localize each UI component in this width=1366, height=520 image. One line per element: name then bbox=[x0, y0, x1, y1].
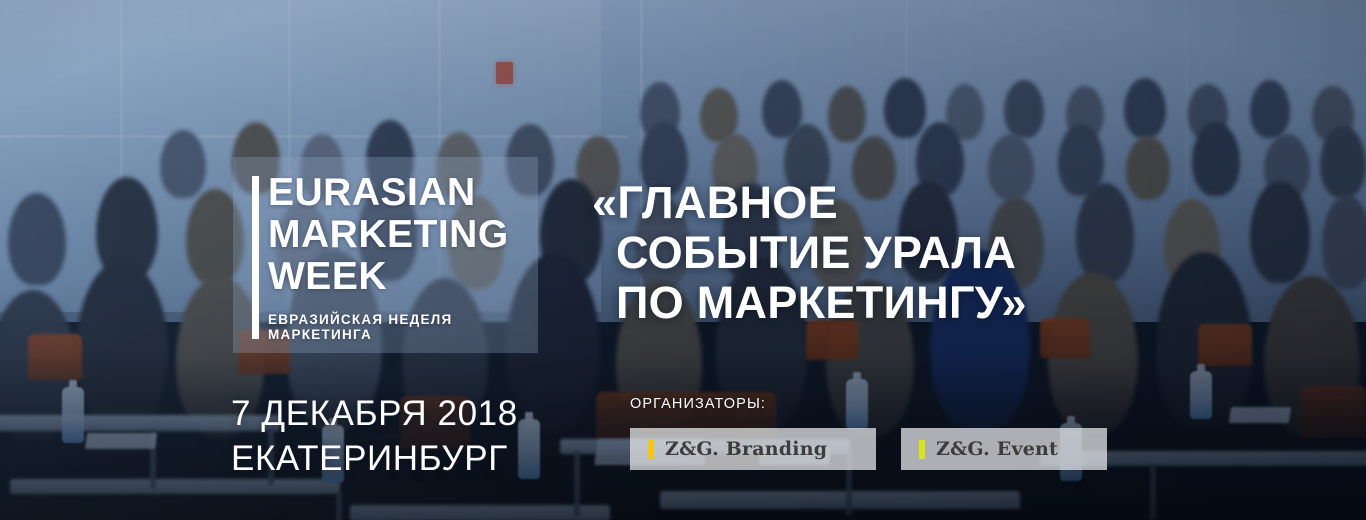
event-banner: EURASIAN MARKETING WEEK ЕВРАЗИЙСКАЯ НЕДЕ… bbox=[0, 0, 1366, 520]
headline-line-2: СОБЫТИЕ УРАЛА bbox=[616, 228, 1152, 278]
organizer-logo-event[interactable]: Z&G. Event bbox=[901, 428, 1107, 470]
organizers-section: ОРГАНИЗАТОРЫ: Z&G. Branding Z&G. Event bbox=[630, 396, 766, 412]
organizers-label: ОРГАНИЗАТОРЫ: bbox=[630, 396, 766, 412]
logo-line-1: EURASIAN bbox=[268, 172, 530, 214]
logo-subtitle: ЕВРАЗИЙСКАЯ НЕДЕЛЯ МАРКЕТИНГА bbox=[268, 312, 530, 342]
organizer-accent-tick bbox=[919, 440, 925, 459]
event-city: ЕКАТЕРИНБУРГ bbox=[231, 436, 518, 481]
logo-line-2: MARKETING bbox=[268, 214, 530, 256]
event-date: 7 ДЕКАБРЯ 2018 bbox=[231, 391, 518, 436]
headline-line-3: ПО МАРКЕТИНГУ» bbox=[616, 278, 1152, 328]
headline-line-1: «ГЛАВНОЕ bbox=[592, 178, 1152, 228]
logo-line-3: WEEK bbox=[268, 256, 530, 298]
headline: «ГЛАВНОЕ СОБЫТИЕ УРАЛА ПО МАРКЕТИНГУ» bbox=[592, 178, 1152, 328]
organizer-logo-branding[interactable]: Z&G. Branding bbox=[630, 428, 876, 470]
event-logo: EURASIAN MARKETING WEEK ЕВРАЗИЙСКАЯ НЕДЕ… bbox=[268, 172, 530, 342]
organizer-name: Z&G. Event bbox=[936, 438, 1058, 460]
event-date-city: 7 ДЕКАБРЯ 2018 ЕКАТЕРИНБУРГ bbox=[231, 391, 518, 481]
organizer-accent-tick bbox=[648, 440, 654, 459]
organizer-logos: Z&G. Branding Z&G. Event bbox=[630, 428, 1107, 470]
organizer-name: Z&G. Branding bbox=[665, 438, 827, 460]
logo-accent-bar bbox=[252, 176, 259, 339]
